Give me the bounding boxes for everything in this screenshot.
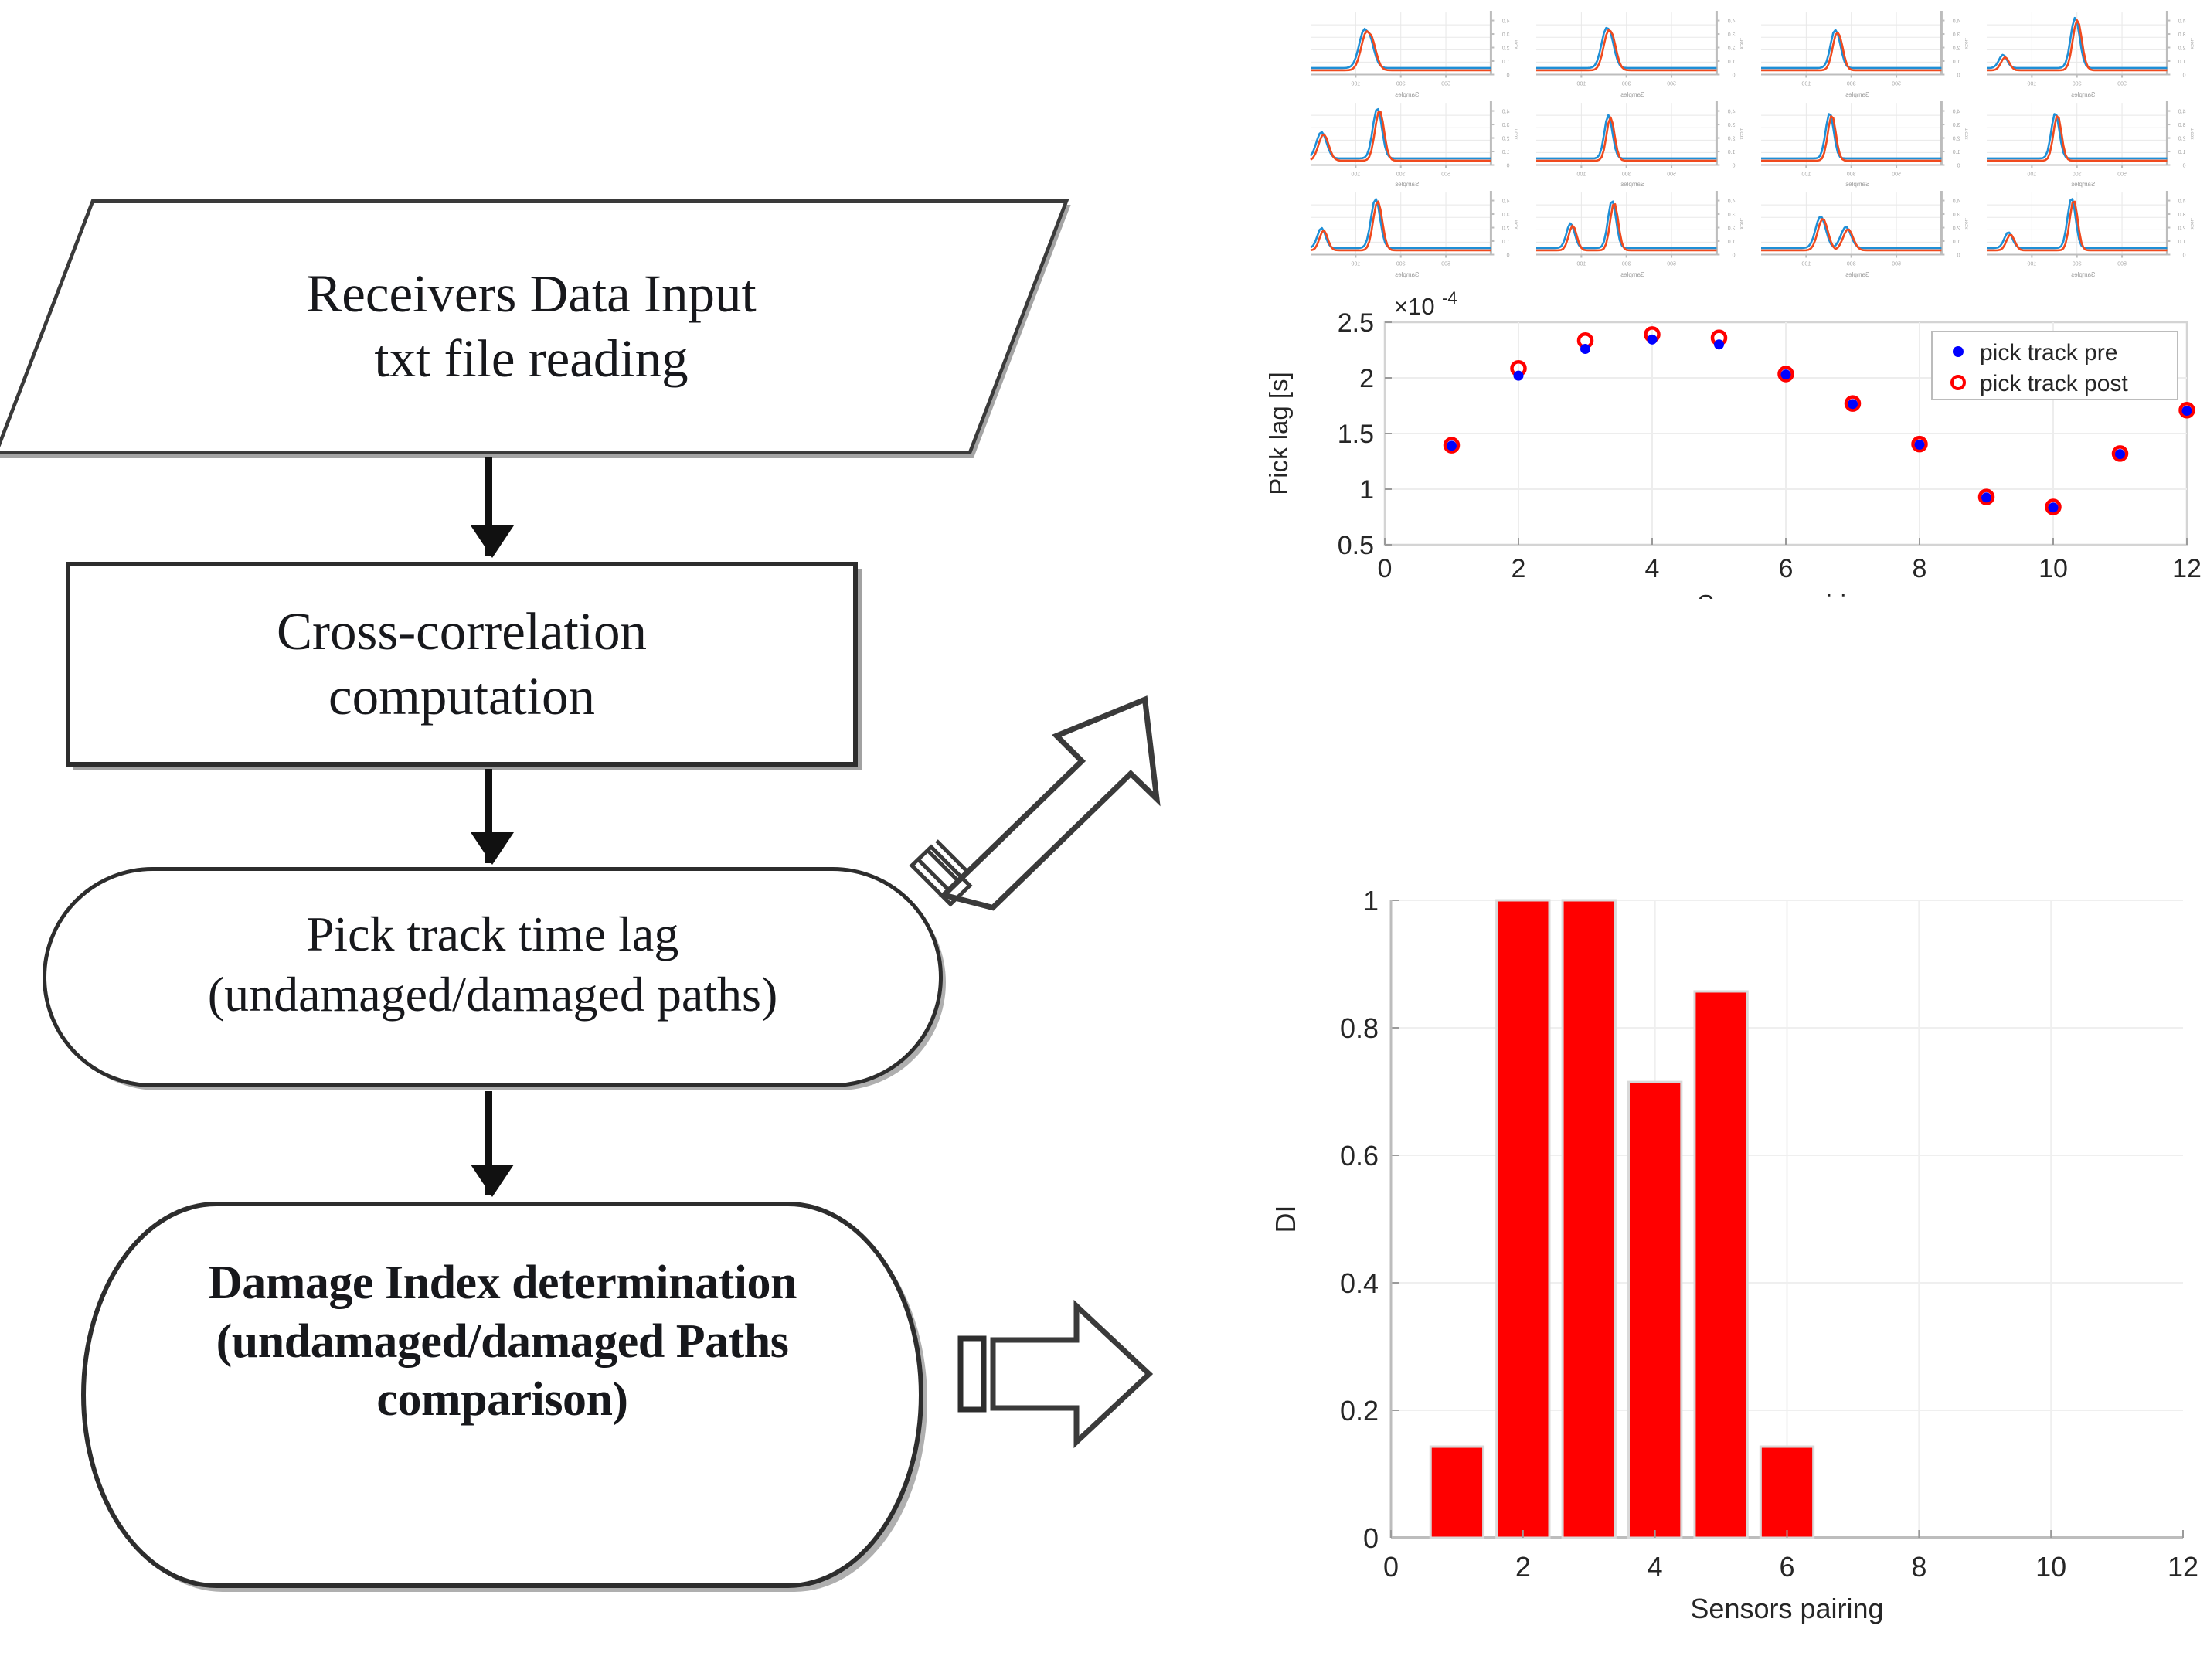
svg-text:0: 0 bbox=[1506, 73, 1509, 79]
svg-text:4: 4 bbox=[1645, 554, 1660, 583]
process-flowchart: Receivers Data Input txt file reading Cr… bbox=[0, 0, 1252, 1680]
svg-text:0: 0 bbox=[2182, 73, 2185, 79]
bar[interactable] bbox=[1629, 1082, 1682, 1538]
svg-text:100: 100 bbox=[1801, 82, 1811, 87]
mini-xcorr-plot-grid: 01.02.03.04.0xcorr100300500Samples01.02.… bbox=[1306, 6, 2207, 277]
svg-text:1.0: 1.0 bbox=[1953, 150, 1960, 155]
svg-text:2.0: 2.0 bbox=[1953, 46, 1960, 52]
svg-text:8: 8 bbox=[1913, 554, 1927, 583]
svg-text:0: 0 bbox=[1506, 163, 1509, 168]
mini-xcorr-plot[interactable]: 01.02.03.04.0xcorr100300500Samples bbox=[1532, 6, 1757, 97]
svg-text:2.5: 2.5 bbox=[1338, 308, 1374, 338]
svg-text:4.0: 4.0 bbox=[1953, 109, 1960, 114]
svg-text:×10: ×10 bbox=[1394, 293, 1435, 320]
results-plots-panel: 01.02.03.04.0xcorr100300500Samples01.02.… bbox=[1252, 0, 2207, 1680]
svg-text:3.0: 3.0 bbox=[1953, 213, 1960, 218]
connector-input-to-xcorr bbox=[485, 457, 492, 556]
svg-text:2.0: 2.0 bbox=[1727, 136, 1735, 141]
svg-text:0: 0 bbox=[2182, 253, 2185, 259]
mini-xcorr-plot[interactable]: 01.02.03.04.0xcorr100300500Samples bbox=[1982, 97, 2207, 187]
bar[interactable] bbox=[1563, 900, 1615, 1538]
svg-text:0.4: 0.4 bbox=[1340, 1267, 1379, 1299]
flow-node-receivers-data-input[interactable]: Receivers Data Input txt file reading bbox=[43, 199, 1020, 454]
flow-node-di-label: Damage Index determination (undamaged/da… bbox=[81, 1254, 923, 1430]
mini-plot-xlabel: Samples bbox=[1532, 271, 1734, 278]
svg-text:0.5: 0.5 bbox=[1338, 531, 1374, 560]
flow-node-xcorr-label: Cross-correlation computation bbox=[66, 599, 858, 729]
svg-text:2: 2 bbox=[1515, 1551, 1531, 1583]
svg-text:500: 500 bbox=[1892, 262, 1901, 267]
mini-xcorr-plot[interactable]: 01.02.03.04.0xcorr100300500Samples bbox=[1532, 97, 1757, 187]
svg-text:xcorr: xcorr bbox=[1513, 218, 1518, 230]
arrowhead-icon bbox=[471, 832, 514, 865]
svg-text:500: 500 bbox=[1441, 82, 1450, 87]
svg-text:300: 300 bbox=[1621, 172, 1631, 177]
svg-text:4.0: 4.0 bbox=[1502, 19, 1510, 25]
svg-text:100: 100 bbox=[1351, 172, 1360, 177]
svg-text:Sensors pairing: Sensors pairing bbox=[1697, 590, 1874, 599]
svg-text:-4: -4 bbox=[1442, 290, 1457, 308]
block-arrow-diagonal-icon bbox=[889, 657, 1213, 943]
mini-xcorr-plot[interactable]: 01.02.03.04.0xcorr100300500Samples bbox=[1306, 97, 1532, 187]
svg-text:3.0: 3.0 bbox=[1502, 123, 1510, 128]
svg-text:0: 0 bbox=[1383, 1551, 1399, 1583]
svg-text:500: 500 bbox=[1892, 82, 1901, 87]
svg-text:4.0: 4.0 bbox=[2178, 199, 2185, 205]
svg-text:6: 6 bbox=[1779, 1551, 1794, 1583]
svg-text:2: 2 bbox=[1512, 554, 1526, 583]
svg-text:1.0: 1.0 bbox=[1502, 60, 1510, 65]
svg-text:0: 0 bbox=[1378, 554, 1393, 583]
svg-text:xcorr: xcorr bbox=[2189, 128, 2195, 139]
svg-text:100: 100 bbox=[1351, 82, 1360, 87]
svg-text:300: 300 bbox=[1847, 262, 1856, 267]
svg-text:xcorr: xcorr bbox=[1739, 128, 1744, 139]
svg-text:100: 100 bbox=[2027, 172, 2036, 177]
svg-text:3.0: 3.0 bbox=[1727, 123, 1735, 128]
svg-text:0: 0 bbox=[1732, 163, 1735, 168]
svg-text:100: 100 bbox=[1576, 172, 1586, 177]
svg-text:10: 10 bbox=[2035, 1551, 2066, 1583]
svg-text:300: 300 bbox=[2072, 262, 2081, 267]
svg-text:3.0: 3.0 bbox=[2178, 213, 2185, 218]
svg-text:2.0: 2.0 bbox=[1502, 136, 1510, 141]
svg-text:3.0: 3.0 bbox=[1727, 213, 1735, 218]
svg-text:500: 500 bbox=[1892, 172, 1901, 177]
svg-text:500: 500 bbox=[2117, 172, 2127, 177]
svg-text:1.0: 1.0 bbox=[1502, 240, 1510, 245]
svg-text:100: 100 bbox=[1576, 262, 1586, 267]
svg-text:2: 2 bbox=[1359, 364, 1374, 393]
svg-text:3.0: 3.0 bbox=[1502, 213, 1510, 218]
svg-text:300: 300 bbox=[2072, 172, 2081, 177]
svg-text:3.0: 3.0 bbox=[1727, 32, 1735, 38]
svg-text:300: 300 bbox=[1621, 262, 1631, 267]
svg-text:0: 0 bbox=[1506, 253, 1509, 259]
svg-text:xcorr: xcorr bbox=[1964, 218, 1969, 230]
svg-text:2.0: 2.0 bbox=[1953, 226, 1960, 232]
svg-text:xcorr: xcorr bbox=[1513, 37, 1518, 49]
mini-xcorr-plot[interactable]: 01.02.03.04.0xcorr100300500Samples bbox=[1982, 6, 2207, 97]
bar[interactable] bbox=[1760, 1447, 1813, 1538]
svg-text:2.0: 2.0 bbox=[1727, 46, 1735, 52]
svg-text:6: 6 bbox=[1779, 554, 1794, 583]
svg-text:0: 0 bbox=[1363, 1522, 1379, 1554]
mini-xcorr-plot[interactable]: 01.02.03.04.0xcorr100300500Samples bbox=[1306, 186, 1532, 277]
svg-text:500: 500 bbox=[2117, 262, 2127, 267]
svg-text:300: 300 bbox=[1396, 172, 1406, 177]
arrowhead-icon bbox=[471, 1165, 514, 1197]
svg-text:4.0: 4.0 bbox=[1502, 109, 1510, 114]
svg-text:8: 8 bbox=[1911, 1551, 1926, 1583]
svg-text:xcorr: xcorr bbox=[1739, 37, 1744, 49]
svg-text:0: 0 bbox=[1732, 73, 1735, 79]
svg-text:1.0: 1.0 bbox=[1953, 60, 1960, 65]
flow-node-input-label: Receivers Data Input txt file reading bbox=[43, 261, 1020, 391]
svg-text:300: 300 bbox=[1847, 172, 1856, 177]
svg-text:100: 100 bbox=[1801, 172, 1811, 177]
svg-text:0: 0 bbox=[1957, 253, 1960, 259]
mini-xcorr-plot[interactable]: 01.02.03.04.0xcorr100300500Samples bbox=[1756, 186, 1982, 277]
bar[interactable] bbox=[1497, 900, 1549, 1538]
mini-plot-xlabel: Samples bbox=[1756, 271, 1959, 278]
svg-text:0.8: 0.8 bbox=[1340, 1012, 1379, 1044]
svg-text:Sensors pairing: Sensors pairing bbox=[1690, 1593, 1883, 1624]
svg-text:1.0: 1.0 bbox=[2178, 150, 2185, 155]
svg-text:12: 12 bbox=[2168, 1551, 2198, 1583]
svg-text:300: 300 bbox=[1847, 82, 1856, 87]
svg-text:1.0: 1.0 bbox=[1953, 240, 1960, 245]
svg-text:300: 300 bbox=[1396, 262, 1406, 267]
svg-text:500: 500 bbox=[2117, 82, 2127, 87]
svg-text:1.5: 1.5 bbox=[1338, 420, 1374, 449]
svg-text:10: 10 bbox=[2039, 554, 2068, 583]
svg-text:3.0: 3.0 bbox=[1502, 32, 1510, 38]
svg-text:300: 300 bbox=[1621, 82, 1631, 87]
svg-text:xcorr: xcorr bbox=[1739, 218, 1744, 230]
svg-text:2.0: 2.0 bbox=[1502, 226, 1510, 232]
svg-text:0.6: 0.6 bbox=[1340, 1140, 1379, 1172]
arrow-tail-block bbox=[961, 1338, 984, 1410]
svg-text:2.0: 2.0 bbox=[1953, 136, 1960, 141]
mini-xcorr-plot[interactable]: 01.02.03.04.0xcorr100300500Samples bbox=[1532, 186, 1757, 277]
svg-text:4.0: 4.0 bbox=[1953, 199, 1960, 205]
bar[interactable] bbox=[1695, 991, 1747, 1538]
svg-text:2.0: 2.0 bbox=[2178, 226, 2185, 232]
svg-text:1.0: 1.0 bbox=[2178, 240, 2185, 245]
svg-text:500: 500 bbox=[1667, 262, 1676, 267]
svg-text:Pick lag [s]: Pick lag [s] bbox=[1264, 372, 1293, 495]
flow-node-cross-correlation[interactable]: Cross-correlation computation bbox=[66, 562, 858, 767]
svg-text:4.0: 4.0 bbox=[1727, 109, 1735, 114]
arrowhead-icon bbox=[471, 525, 514, 558]
svg-text:0: 0 bbox=[1732, 253, 1735, 259]
svg-text:100: 100 bbox=[1351, 262, 1360, 267]
svg-text:300: 300 bbox=[1396, 82, 1406, 87]
svg-text:2.0: 2.0 bbox=[1727, 226, 1735, 232]
svg-text:1.0: 1.0 bbox=[1727, 60, 1735, 65]
svg-text:DI: DI bbox=[1270, 1206, 1301, 1233]
pick-lag-scatter-plot[interactable]: 0.511.522.5024681012Sensors pairingPick … bbox=[1252, 290, 2207, 599]
svg-text:100: 100 bbox=[1576, 82, 1586, 87]
svg-text:4.0: 4.0 bbox=[1727, 199, 1735, 205]
svg-text:3.0: 3.0 bbox=[1953, 123, 1960, 128]
connector-pick-to-di bbox=[485, 1091, 492, 1195]
svg-text:3.0: 3.0 bbox=[2178, 123, 2185, 128]
svg-text:500: 500 bbox=[1441, 172, 1450, 177]
flow-node-damage-index-determination[interactable]: Damage Index determination (undamaged/da… bbox=[81, 1202, 923, 1588]
svg-text:100: 100 bbox=[1801, 262, 1811, 267]
flow-node-pick-track-time-lag[interactable]: Pick track time lag (undamaged/damaged p… bbox=[43, 867, 943, 1087]
svg-text:4.0: 4.0 bbox=[1502, 199, 1510, 205]
svg-text:pick track post: pick track post bbox=[1980, 371, 2128, 396]
svg-text:3.0: 3.0 bbox=[2178, 32, 2185, 38]
svg-text:4.0: 4.0 bbox=[2178, 19, 2185, 25]
svg-text:2.0: 2.0 bbox=[2178, 136, 2185, 141]
svg-text:500: 500 bbox=[1667, 82, 1676, 87]
mini-plot-xlabel: Samples bbox=[1982, 271, 2185, 278]
svg-text:0: 0 bbox=[1957, 73, 1960, 79]
svg-text:xcorr: xcorr bbox=[1964, 37, 1969, 49]
svg-text:500: 500 bbox=[1667, 172, 1676, 177]
svg-text:1.0: 1.0 bbox=[1502, 150, 1510, 155]
svg-text:0: 0 bbox=[1957, 163, 1960, 168]
svg-text:0.2: 0.2 bbox=[1340, 1395, 1379, 1427]
svg-text:4.0: 4.0 bbox=[1727, 19, 1735, 25]
damage-index-bar-chart[interactable]: 00.20.40.60.81024681012Sensors pairingDI bbox=[1252, 858, 2207, 1661]
svg-text:4.0: 4.0 bbox=[1953, 19, 1960, 25]
svg-text:xcorr: xcorr bbox=[1964, 128, 1969, 139]
svg-text:300: 300 bbox=[2072, 82, 2081, 87]
svg-text:xcorr: xcorr bbox=[2189, 218, 2195, 230]
svg-text:3.0: 3.0 bbox=[1953, 32, 1960, 38]
svg-text:100: 100 bbox=[2027, 82, 2036, 87]
svg-text:2.0: 2.0 bbox=[1502, 46, 1510, 52]
svg-text:1.0: 1.0 bbox=[1727, 240, 1735, 245]
svg-text:xcorr: xcorr bbox=[2189, 37, 2195, 49]
mini-xcorr-plot[interactable]: 01.02.03.04.0xcorr100300500Samples bbox=[1982, 186, 2207, 277]
flow-node-pick-label: Pick track time lag (undamaged/damaged p… bbox=[43, 904, 943, 1025]
svg-text:1: 1 bbox=[1359, 475, 1374, 505]
mini-xcorr-plot[interactable]: 01.02.03.04.0xcorr100300500Samples bbox=[1306, 6, 1532, 97]
mini-plot-xlabel: Samples bbox=[1306, 271, 1508, 278]
svg-text:12: 12 bbox=[2172, 554, 2202, 583]
svg-text:4: 4 bbox=[1648, 1551, 1663, 1583]
svg-text:0: 0 bbox=[2182, 163, 2185, 168]
svg-text:2.0: 2.0 bbox=[2178, 46, 2185, 52]
svg-text:pick track pre: pick track pre bbox=[1980, 340, 2117, 366]
svg-text:100: 100 bbox=[2027, 262, 2036, 267]
connector-xcorr-to-pick bbox=[485, 769, 492, 863]
svg-text:1: 1 bbox=[1363, 885, 1379, 917]
svg-text:4.0: 4.0 bbox=[2178, 109, 2185, 114]
block-arrow-right-icon bbox=[947, 1289, 1171, 1459]
mini-xcorr-plot[interactable]: 01.02.03.04.0xcorr100300500Samples bbox=[1756, 6, 1982, 97]
svg-text:1.0: 1.0 bbox=[2178, 60, 2185, 65]
mini-xcorr-plot[interactable]: 01.02.03.04.0xcorr100300500Samples bbox=[1756, 97, 1982, 187]
svg-text:xcorr: xcorr bbox=[1513, 128, 1518, 139]
bar[interactable] bbox=[1430, 1447, 1483, 1538]
svg-text:500: 500 bbox=[1441, 262, 1450, 267]
svg-text:1.0: 1.0 bbox=[1727, 150, 1735, 155]
